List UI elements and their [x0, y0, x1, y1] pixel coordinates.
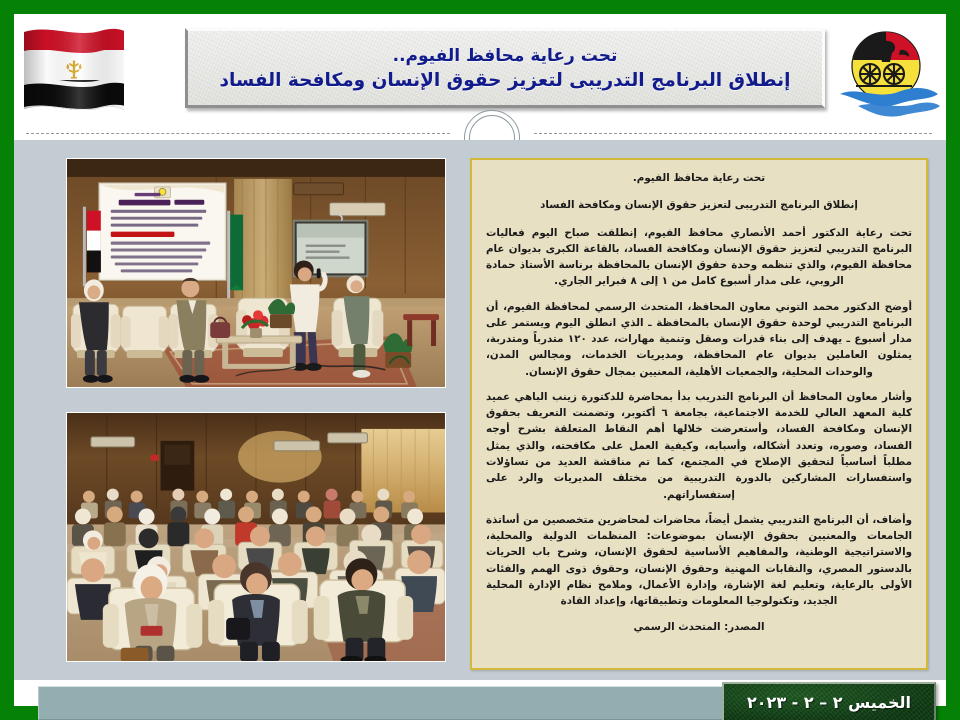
article-paragraph-4: وأضاف، أن البرنامج التدريبي يشمل أيضاً، … [486, 512, 912, 610]
slide-inner-canvas: تحت رعاية محافظ الفيوم.. إنطلاق البرنامج… [14, 14, 946, 706]
photo-audience-image [67, 413, 445, 662]
date-badge-label: الخميس ٢ – ٢ - ٢٠٢٣ [747, 693, 911, 712]
headline-plaque: تحت رعاية محافظ الفيوم.. إنطلاق البرنامج… [185, 28, 825, 108]
photo-conference-stage-image [67, 159, 445, 388]
article-paragraph-1: تحت رعاية الدكتور أحمد الأنصاري محافظ ال… [486, 225, 912, 290]
article-lead-1: تحت رعاية محافظ الفيوم. [486, 170, 912, 186]
article-source: المصدر: المتحدث الرسمي [486, 619, 912, 635]
article-lead-2: إنطلاق البرنامج التدريبى لتعزيز حقوق الإ… [486, 197, 912, 213]
article-text-panel: تحت رعاية محافظ الفيوم. إنطلاق البرنامج … [470, 158, 928, 670]
date-badge: الخميس ٢ – ٢ - ٢٠٢٣ [722, 682, 936, 720]
photo-conference-stage [66, 158, 446, 388]
article-paragraph-3: وأشار معاون المحافظ أن البرنامج التدريب … [486, 389, 912, 503]
body-area: تحت رعاية محافظ الفيوم. إنطلاق البرنامج … [14, 140, 946, 680]
article-paragraph-2: أوضح الدكتور محمد التوني معاون المحافظ، … [486, 299, 912, 380]
slide-root: تحت رعاية محافظ الفيوم.. إنطلاق البرنامج… [0, 0, 960, 720]
egypt-flag-icon [20, 22, 128, 120]
fayoum-governorate-logo-icon [832, 16, 944, 128]
headline-line-1: تحت رعاية محافظ الفيوم.. [393, 46, 618, 66]
photo-audience [66, 412, 446, 662]
divider-dashed-right [534, 133, 932, 134]
header: تحت رعاية محافظ الفيوم.. إنطلاق البرنامج… [14, 14, 946, 118]
divider-dashed-left [26, 133, 450, 134]
headline-line-2: إنطلاق البرنامج التدريبى لتعزيز حقوق الإ… [220, 70, 791, 91]
